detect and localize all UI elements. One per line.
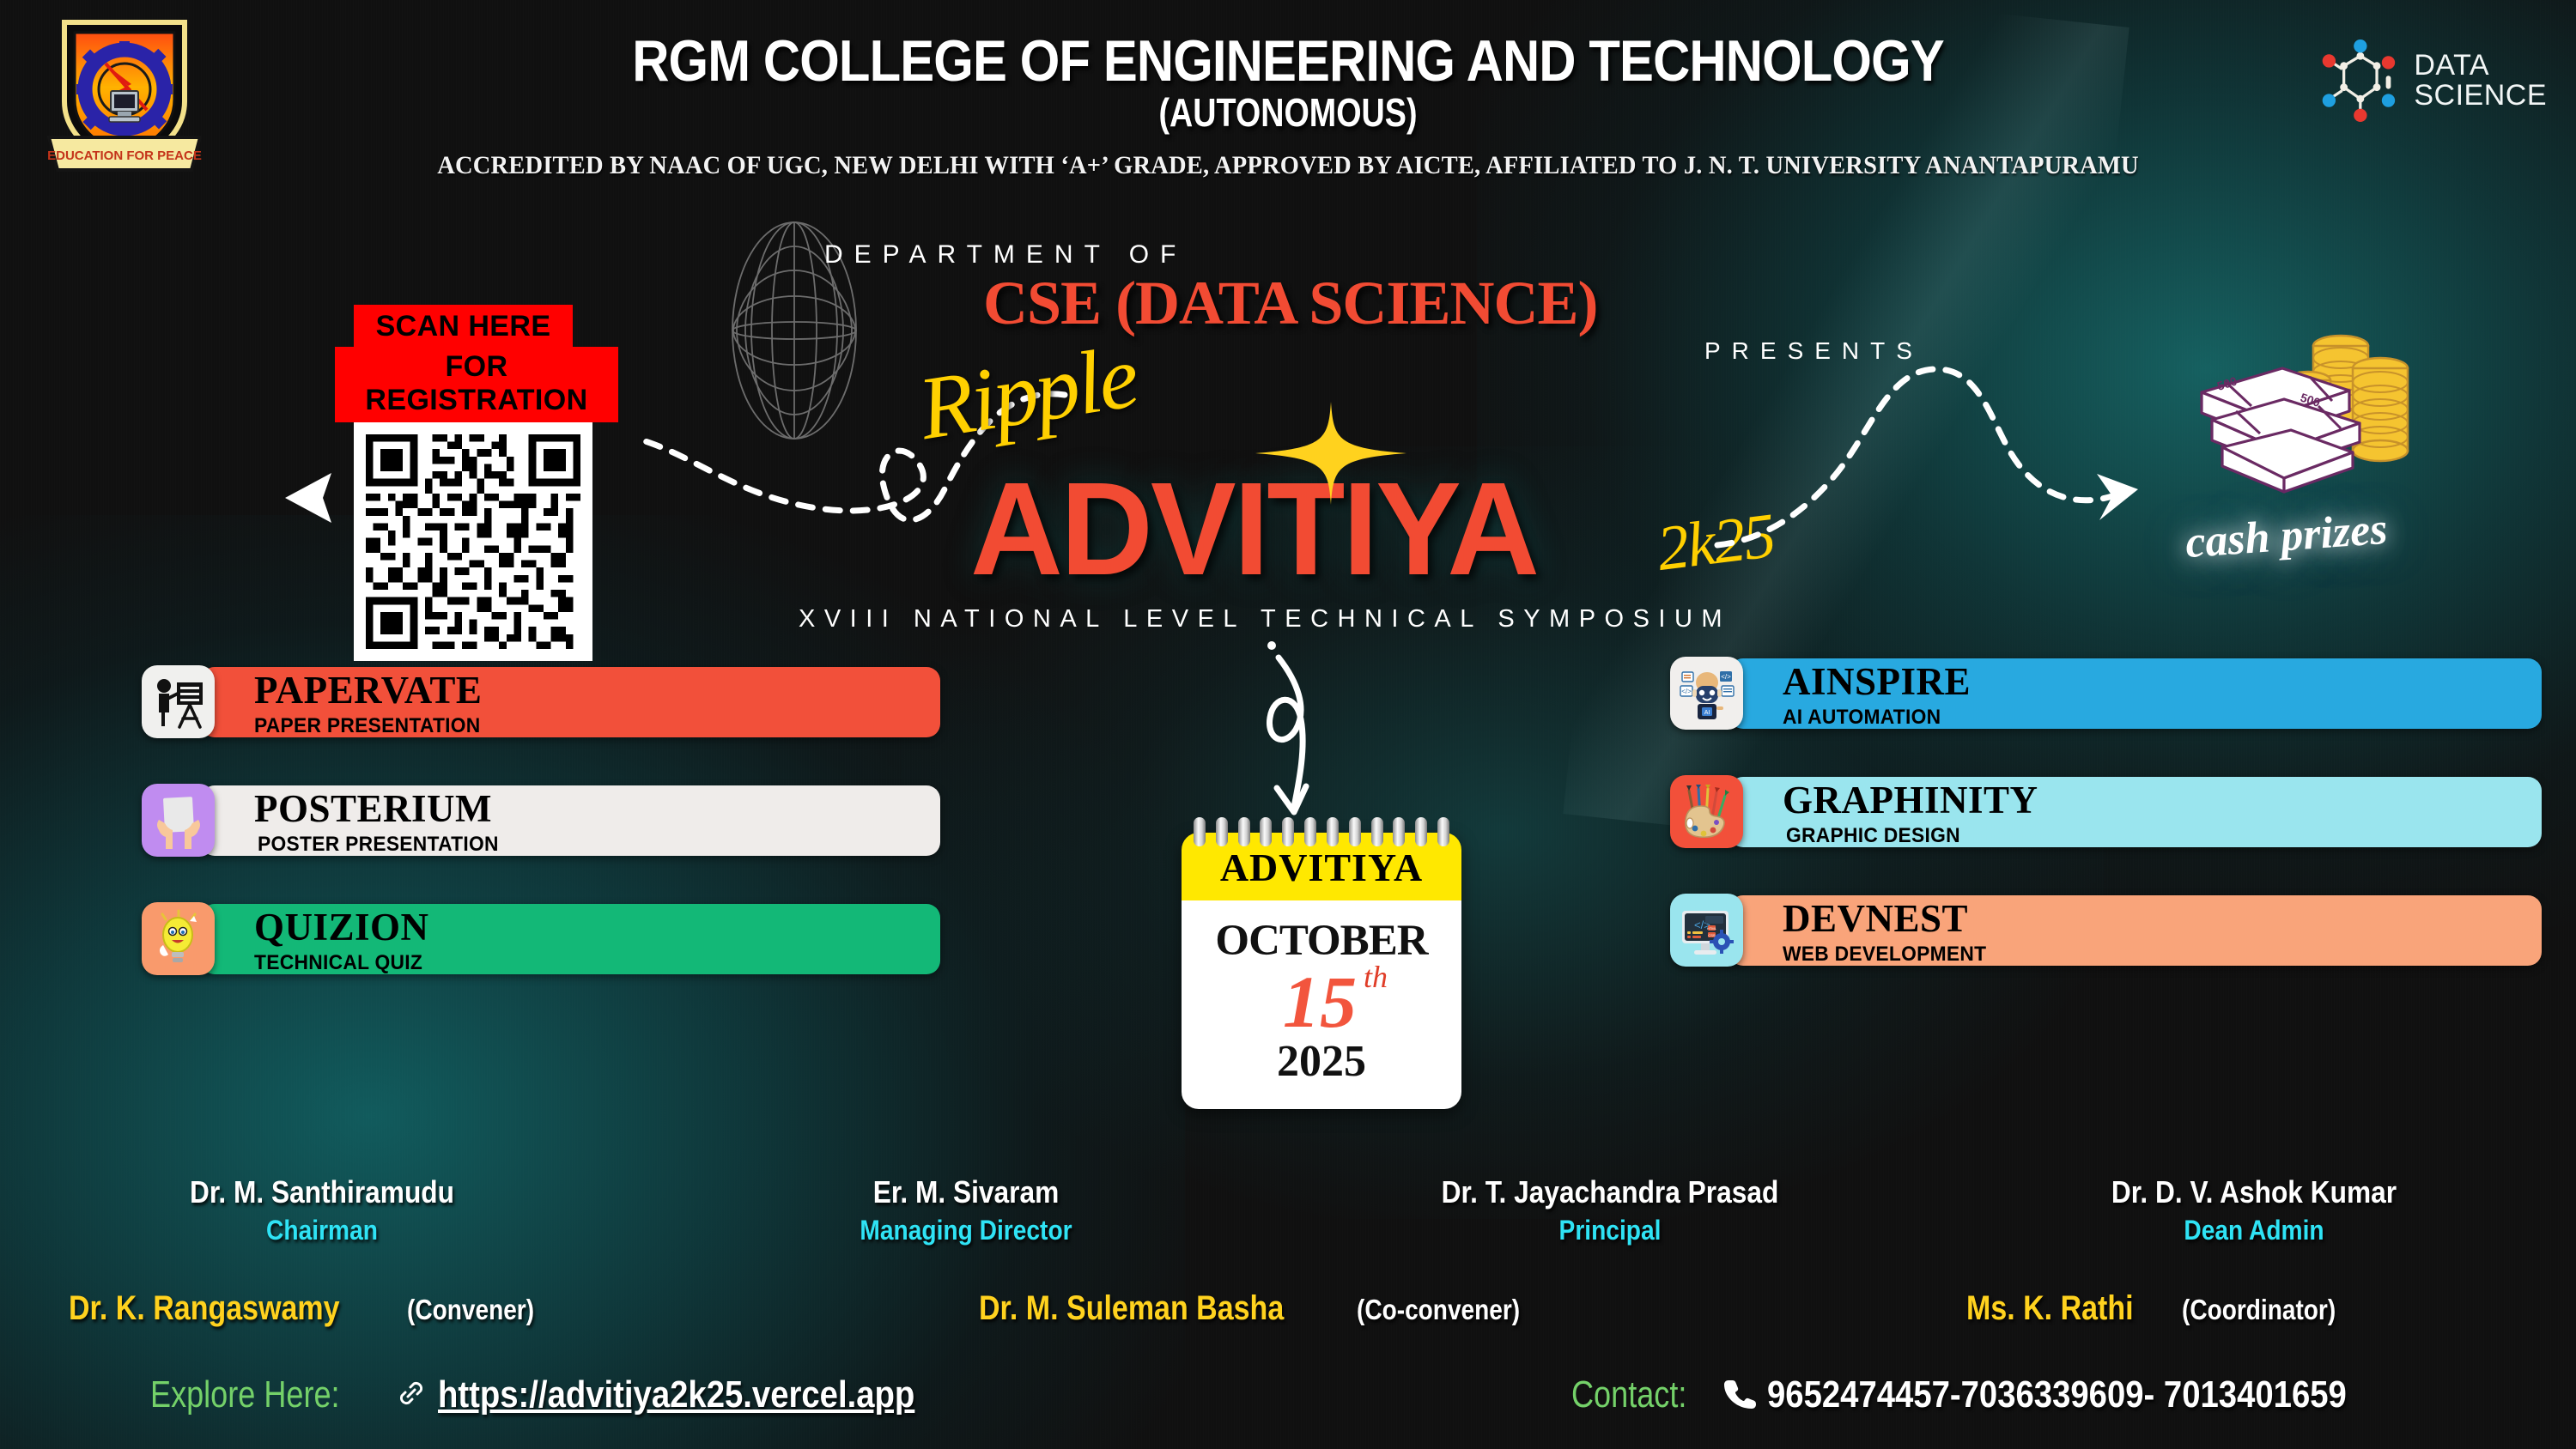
calendar-ring-icon	[1238, 817, 1250, 846]
event-subtitle: WEB DEVELOPMENT	[1783, 943, 2504, 967]
event-bar[interactable]: GRAPHINITY GRAPHIC DESIGN	[1729, 777, 2542, 847]
event-subtitle: TECHNICAL QUIZ	[254, 951, 906, 975]
convener-role: (Convener)	[407, 1294, 534, 1326]
faculty-chairman: Dr. M. Santhiramudu Chairman	[0, 1174, 644, 1246]
qr-code-icon[interactable]	[354, 422, 592, 661]
calendar-day: 15	[1283, 959, 1357, 1045]
for-registration-label: FOR REGISTRATION	[335, 347, 618, 422]
calendar-day-row: 15 th	[1182, 962, 1461, 1036]
event-card-papervate[interactable]: PAPERVATE PAPER PRESENTATION	[142, 665, 940, 738]
page-title: RGM COLLEGE OF ENGINEERING AND TECHNOLOG…	[155, 27, 2421, 94]
svg-text:CSS: CSS	[1708, 933, 1716, 937]
event-name: DEVNEST	[1783, 900, 2542, 938]
faculty-row: Dr. M. Santhiramudu Chairman Er. M. Siva…	[0, 1174, 2576, 1246]
sparkle-star-icon	[1254, 402, 1408, 509]
autonomous-label: (AUTONOMOUS)	[232, 89, 2344, 136]
department-name: CSE (DATA SCIENCE)	[983, 268, 1597, 339]
palette-brushes-icon	[1670, 775, 1743, 848]
faculty-name: Dr. M. Santhiramudu	[39, 1174, 605, 1210]
calendar-ring-icon	[1216, 817, 1228, 846]
molecule-network-icon	[2316, 39, 2398, 122]
event-bar[interactable]: PAPERVATE PAPER PRESENTATION	[201, 667, 940, 737]
calendar-day-ordinal: th	[1364, 959, 1388, 995]
calendar-ring-icon	[1282, 817, 1294, 846]
ds-line-1: DATA	[2414, 49, 2489, 82]
faculty-principal: Dr. T. Jayachandra Prasad Principal	[1288, 1174, 1932, 1246]
contact-label: Contact:	[1571, 1373, 1686, 1416]
event-date-calendar: ADVITIYA OCTOBER 15 th 2025	[1182, 817, 1461, 1109]
contact-block: Contact: 9652474457-7036339609- 70134016…	[1571, 1373, 2433, 1416]
event-name: POSTERIUM	[254, 790, 940, 828]
convener-name: Ms. K. Rathi	[1966, 1289, 2134, 1328]
accreditation-text: ACCREDITED BY NAAC OF UGC, NEW DELHI WIT…	[64, 151, 2512, 180]
event-name: AINSPIRE	[1783, 663, 2542, 701]
events-left-column: PAPERVATE PAPER PRESENTATION POSTERIUM P…	[142, 665, 940, 1021]
faculty-role: Dean Admin	[1971, 1215, 2537, 1246]
calendar-rings	[1182, 817, 1461, 843]
arrow-left-icon	[283, 468, 343, 532]
curly-arrow-down-icon	[1258, 635, 1352, 833]
event-name: QUIZION	[254, 908, 940, 947]
calendar-ring-icon	[1327, 817, 1339, 846]
dashed-arrow-right-icon	[1709, 343, 2207, 549]
registration-qr-block[interactable]: SCAN HERE FOR REGISTRATION	[335, 305, 618, 661]
event-card-ainspire[interactable]: </> </> AI AINSPI	[1670, 657, 2542, 730]
calendar-ring-icon	[1260, 817, 1272, 846]
calendar-body: ADVITIYA OCTOBER 15 th 2025	[1182, 833, 1461, 1109]
event-bar[interactable]: QUIZION TECHNICAL QUIZ	[201, 904, 940, 974]
event-subtitle: XVIII NATIONAL LEVEL TECHNICAL SYMPOSIUM	[799, 605, 1731, 634]
svg-text:HTML: HTML	[1707, 926, 1717, 931]
event-subtitle: AI AUTOMATION	[1783, 706, 2504, 730]
calendar-ring-icon	[1393, 817, 1405, 846]
ai-robot-icon: </> </> AI	[1670, 657, 1743, 730]
event-card-posterium[interactable]: POSTERIUM POSTER PRESENTATION	[142, 784, 940, 857]
poster-root: EDUCATION FOR PEACE RGM COLLEGE OF ENGIN…	[0, 0, 2576, 1449]
code-monitor-icon: </> HTML CSS	[1670, 894, 1743, 967]
data-science-logo-text: DATA SCIENCE	[2414, 51, 2547, 110]
calendar-ring-icon	[1194, 817, 1206, 846]
department-of-label: DEPARTMENT OF	[824, 240, 1187, 270]
calendar-ring-icon	[1437, 817, 1449, 846]
convener-name: Dr. K. Rangaswamy	[69, 1289, 340, 1328]
event-card-devnest[interactable]: </> HTML CSS	[1670, 894, 2542, 967]
data-science-logo: DATA SCIENCE	[2316, 39, 2547, 122]
calendar-ring-icon	[1304, 817, 1316, 846]
website-url[interactable]: https://advitiya2k25.vercel.app	[438, 1373, 914, 1416]
convener-role: (Co-convener)	[1357, 1294, 1520, 1326]
money-stack-coins-icon: 500 500	[2181, 330, 2439, 524]
event-subtitle: GRAPHIC DESIGN	[1786, 824, 2504, 848]
phone-icon	[1722, 1376, 1757, 1415]
events-right-column: </> </> AI AINSPI	[1670, 657, 2542, 1012]
faculty-name: Er. M. Sivaram	[683, 1174, 1249, 1210]
event-card-graphinity[interactable]: GRAPHINITY GRAPHIC DESIGN	[1670, 775, 2542, 848]
link-chain-icon	[395, 1377, 428, 1414]
calendar-date-block: OCTOBER 15 th 2025	[1182, 900, 1461, 1109]
ds-line-2: SCIENCE	[2414, 79, 2547, 112]
faculty-managing-director: Er. M. Sivaram Managing Director	[644, 1174, 1288, 1246]
faculty-role: Principal	[1327, 1215, 1893, 1246]
presenter-board-icon	[142, 665, 215, 738]
hands-holding-poster-icon	[142, 784, 215, 857]
event-bar[interactable]: AINSPIRE AI AUTOMATION	[1729, 658, 2542, 729]
convener-entry: Ms. K. Rathi (Coordinator)	[1966, 1289, 2363, 1328]
explore-link-block[interactable]: Explore Here: https://advitiya2k25.verce…	[150, 1373, 986, 1416]
faculty-name: Dr. D. V. Ashok Kumar	[1971, 1174, 2537, 1210]
event-card-quizion[interactable]: QUIZION TECHNICAL QUIZ	[142, 902, 940, 975]
faculty-role: Managing Director	[683, 1215, 1249, 1246]
event-bar[interactable]: DEVNEST WEB DEVELOPMENT	[1729, 895, 2542, 966]
event-bar[interactable]: POSTERIUM POSTER PRESENTATION	[201, 785, 940, 856]
event-name: PAPERVATE	[254, 671, 940, 710]
calendar-ring-icon	[1349, 817, 1361, 846]
event-subtitle: PAPER PRESENTATION	[254, 714, 906, 738]
faculty-role: Chairman	[39, 1215, 605, 1246]
convener-name: Dr. M. Suleman Basha	[979, 1289, 1284, 1328]
faculty-name: Dr. T. Jayachandra Prasad	[1327, 1174, 1893, 1210]
lightbulb-character-icon	[142, 902, 215, 975]
explore-here-label: Explore Here:	[150, 1373, 340, 1416]
event-name: GRAPHINITY	[1783, 781, 2542, 820]
faculty-dean-admin: Dr. D. V. Ashok Kumar Dean Admin	[1932, 1174, 2576, 1246]
convener-role: (Coordinator)	[2182, 1294, 2336, 1326]
convener-entry: Dr. K. Rangaswamy (Convener)	[69, 1289, 556, 1328]
svg-text:</>: </>	[1721, 673, 1731, 681]
svg-text:AI: AI	[1704, 710, 1710, 716]
event-subtitle: POSTER PRESENTATION	[258, 833, 906, 857]
calendar-ring-icon	[1415, 817, 1427, 846]
scan-here-label: SCAN HERE	[354, 305, 573, 347]
contact-numbers: 9652474457-7036339609- 7013401659	[1767, 1373, 2347, 1416]
calendar-ring-icon	[1371, 817, 1383, 846]
convener-entry: Dr. M. Suleman Basha (Co-convener)	[979, 1289, 1549, 1328]
svg-text:</>: </>	[1681, 688, 1692, 695]
